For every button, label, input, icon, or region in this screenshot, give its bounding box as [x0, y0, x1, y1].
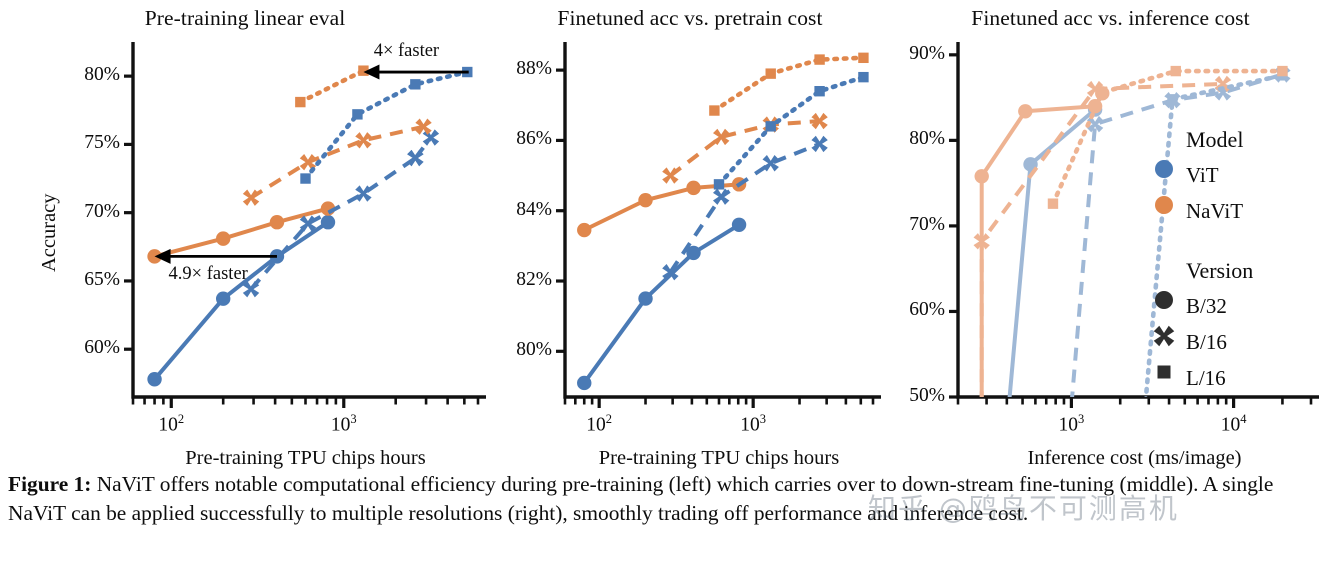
data-point-square: [300, 173, 310, 183]
figure-caption: Figure 1: NaViT offers notable computati…: [8, 470, 1326, 527]
data-point-square: [352, 109, 362, 119]
axis-spine: [958, 42, 1319, 397]
y-tick-label: 60%: [0, 299, 945, 321]
x-tick-label: 102: [149, 412, 193, 437]
data-point-cross: [713, 188, 729, 204]
data-point-square: [1097, 87, 1107, 97]
x-tick-label: 102: [577, 412, 621, 437]
data-point-square: [1171, 66, 1181, 76]
x-axis-label: Pre-training TPU chips hours: [63, 447, 548, 470]
data-point-square: [709, 105, 719, 115]
x-tick-label: 103: [322, 412, 366, 437]
x-tick-label: 103: [1049, 412, 1093, 437]
data-point-circle: [638, 193, 652, 207]
data-point-circle: [975, 169, 989, 183]
legend-markers: [1148, 120, 1208, 410]
data-point-square: [1048, 198, 1058, 208]
data-point-circle: [686, 181, 700, 195]
data-point-square: [1277, 66, 1287, 76]
x-tick-label: 103: [731, 412, 775, 437]
data-point-circle: [1155, 291, 1173, 309]
y-tick-label: 82%: [0, 269, 552, 291]
data-point-circle: [1018, 104, 1032, 118]
data-point-square: [766, 68, 776, 78]
data-point-square: [1167, 94, 1177, 104]
data-point-square: [858, 72, 868, 82]
data-point-cross: [662, 264, 678, 280]
x-axis-label: Inference cost (ms/image): [888, 447, 1331, 470]
caption-label: Figure 1:: [8, 472, 91, 496]
data-point-square: [410, 79, 420, 89]
data-point-square: [1158, 366, 1171, 379]
data-point-square: [814, 86, 824, 96]
data-point-square: [714, 179, 724, 189]
data-point-cross: [1154, 326, 1175, 347]
data-point-square: [295, 97, 305, 107]
data-point-circle: [1155, 196, 1173, 214]
y-tick-label: 90%: [0, 43, 945, 65]
caption-text: NaViT offers notable computational effic…: [8, 472, 1273, 525]
y-tick-label: 70%: [0, 214, 945, 236]
y-tick-label: 50%: [0, 385, 945, 407]
y-tick-label: 80%: [0, 128, 945, 150]
figure-container: Pre-training linear eval Finetuned acc v…: [0, 0, 1331, 571]
data-point-cross: [662, 167, 678, 183]
x-axis-label: Pre-training TPU chips hours: [495, 447, 943, 470]
data-point-circle: [1155, 160, 1173, 178]
x-tick-label: 104: [1212, 412, 1256, 437]
data-point-cross: [407, 150, 423, 166]
y-tick-label: 80%: [0, 339, 552, 361]
data-point-cross: [763, 155, 779, 171]
